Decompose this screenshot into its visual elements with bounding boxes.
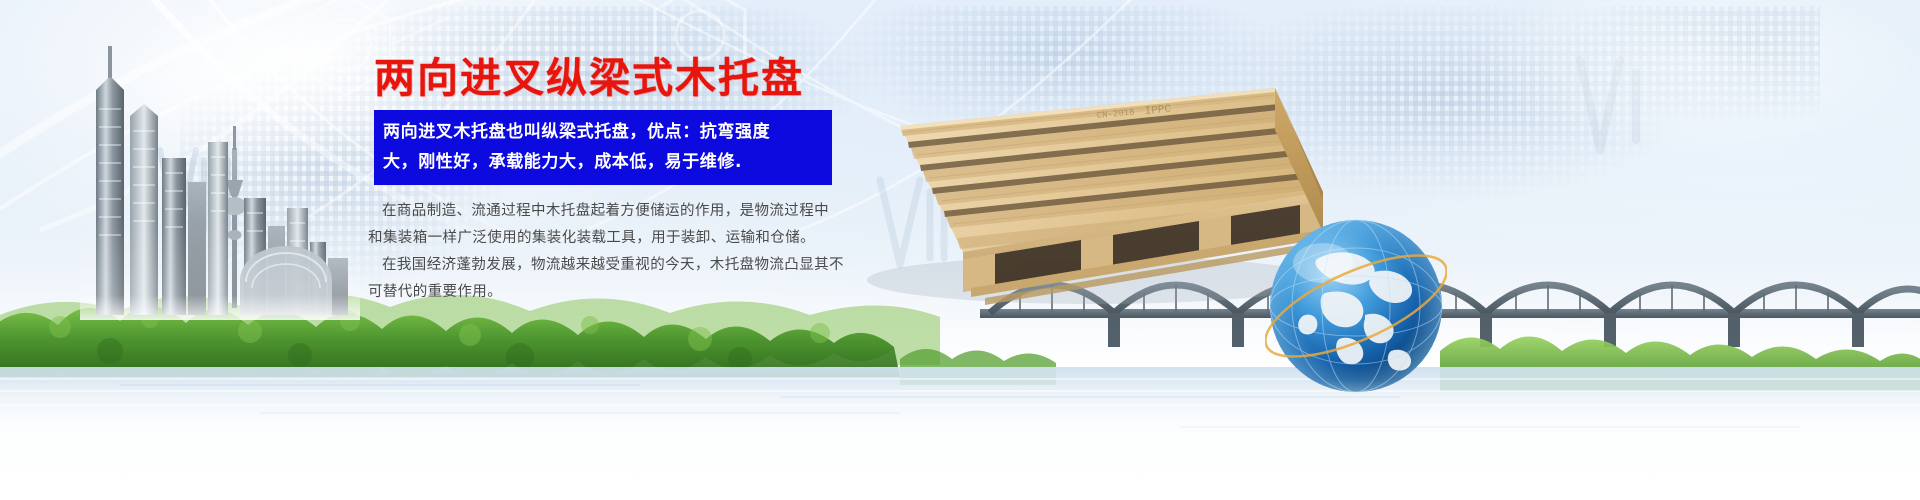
description-paragraph: 在商品制造、流通过程中木托盘起着方便储运的作用，是物流过程中 和集装箱一样广泛使… [368,198,838,306]
svg-text:IPPC: IPPC [1144,103,1172,118]
description-line-3: 在我国经济蓬勃发展，物流越来越受重视的今天，木托盘物流凸显其不 [368,252,838,279]
description-line-1: 在商品制造、流通过程中木托盘起着方便储运的作用，是物流过程中 [368,198,838,225]
city-skyline-silhouette [80,30,360,320]
highlight-line-1: 两向进叉木托盘也叫纵梁式托盘，优点：抗弯强度 [383,117,824,147]
page-title: 两向进叉纵梁式木托盘 [374,55,804,101]
highlight-line-2: 大，刚性好，承载能力大，成本低，易于维修. [383,147,824,177]
description-line-2: 和集装箱一样广泛使用的集装化装载工具，用于装卸、运输和仓储。 [368,225,838,252]
earth-globe-graphic [1265,215,1447,397]
description-line-4: 可替代的重要作用。 [368,279,838,306]
promo-banner: IPPC CN-2018 [0,0,1920,500]
highlight-box: 两向进叉木托盘也叫纵梁式托盘，优点：抗弯强度 大，刚性好，承载能力大，成本低，易… [374,110,832,185]
